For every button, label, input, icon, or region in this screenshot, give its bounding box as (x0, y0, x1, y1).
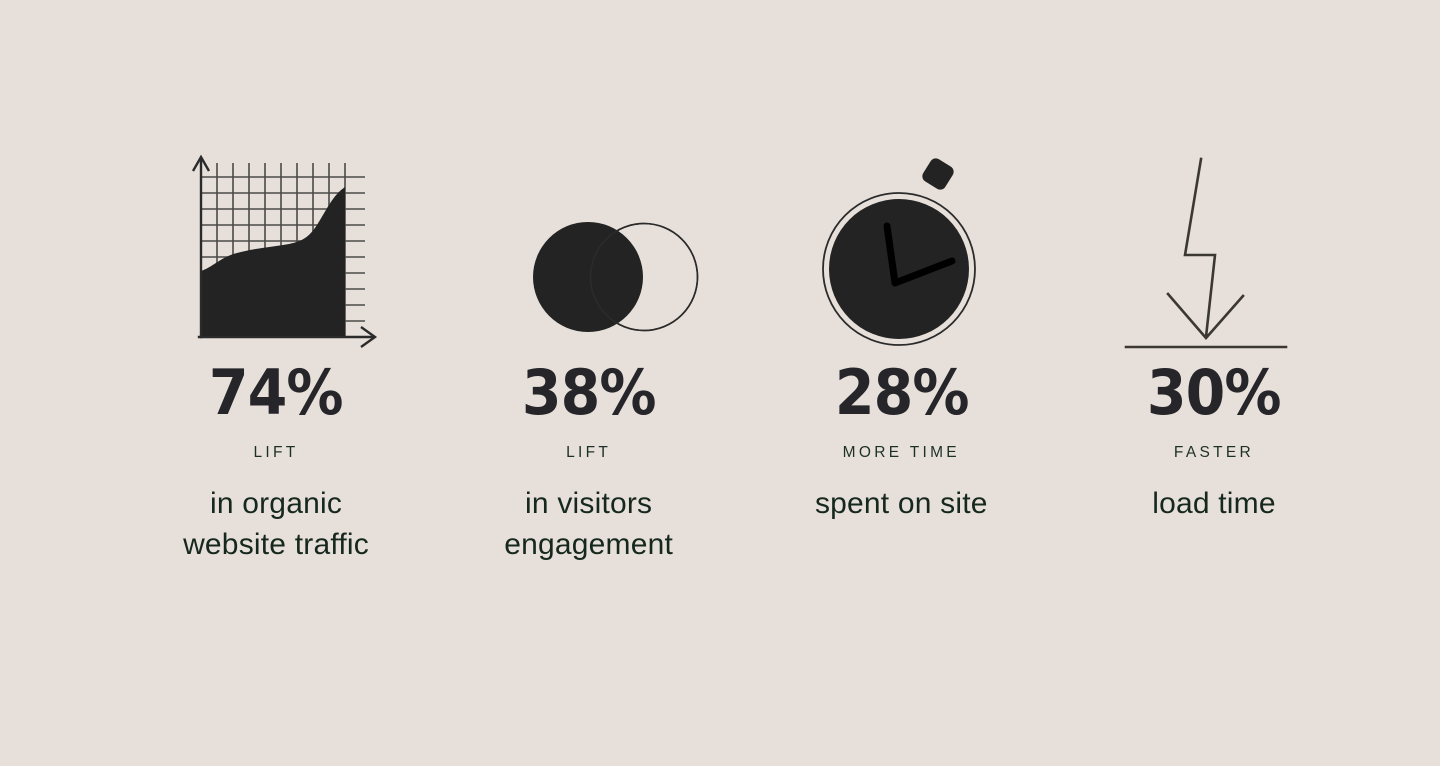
stat-kicker: LIFT (566, 444, 611, 462)
stopwatch-crown (920, 156, 956, 192)
stat-description-line: in organic (183, 484, 369, 525)
stat-description-line: spent on site (815, 484, 988, 525)
stat-value: 30% (1147, 362, 1281, 424)
downward-zigzag-arrow-icon-svg (1106, 141, 1321, 356)
stat-description: load time (1152, 484, 1276, 525)
overlapping-circles-icon (469, 130, 709, 356)
stat-description-line: in visitors (504, 484, 673, 525)
stat-kicker: FASTER (1174, 444, 1254, 462)
stats-infographic: 74% LIFT in organic website traffic 38% … (0, 0, 1440, 766)
stat-description: spent on site (815, 484, 988, 525)
area-chart-grid-icon-svg (169, 141, 384, 356)
stat-card-traffic: 74% LIFT in organic website traffic (120, 130, 432, 566)
area-chart-grid-icon (156, 130, 396, 356)
stat-value: 38% (522, 362, 656, 424)
stat-card-load-time: 30% FASTER load time (1058, 130, 1370, 525)
stat-card-time-on-site: 28% MORE TIME spent on site (745, 130, 1057, 525)
stopwatch-icon (781, 130, 1021, 356)
stat-description: in organic website traffic (183, 484, 369, 566)
stat-kicker: LIFT (253, 444, 298, 462)
stat-description-line: website traffic (183, 525, 369, 566)
stat-value: 74% (209, 362, 343, 424)
stat-value: 28% (834, 362, 968, 424)
stopwatch-icon-svg (794, 141, 1009, 356)
stat-description-line: load time (1152, 484, 1276, 525)
stats-row: 74% LIFT in organic website traffic 38% … (120, 130, 1370, 566)
overlapping-circles-icon-svg (481, 141, 696, 356)
stat-kicker: MORE TIME (843, 444, 960, 462)
stat-description-line: engagement (504, 525, 673, 566)
stat-description: in visitors engagement (504, 484, 673, 566)
zigzag-shaft (1185, 159, 1215, 337)
downward-zigzag-arrow-icon (1094, 130, 1334, 356)
circle-filled (533, 222, 643, 332)
stopwatch-dial (829, 199, 969, 339)
stat-card-engagement: 38% LIFT in visitors engagement (433, 130, 745, 566)
